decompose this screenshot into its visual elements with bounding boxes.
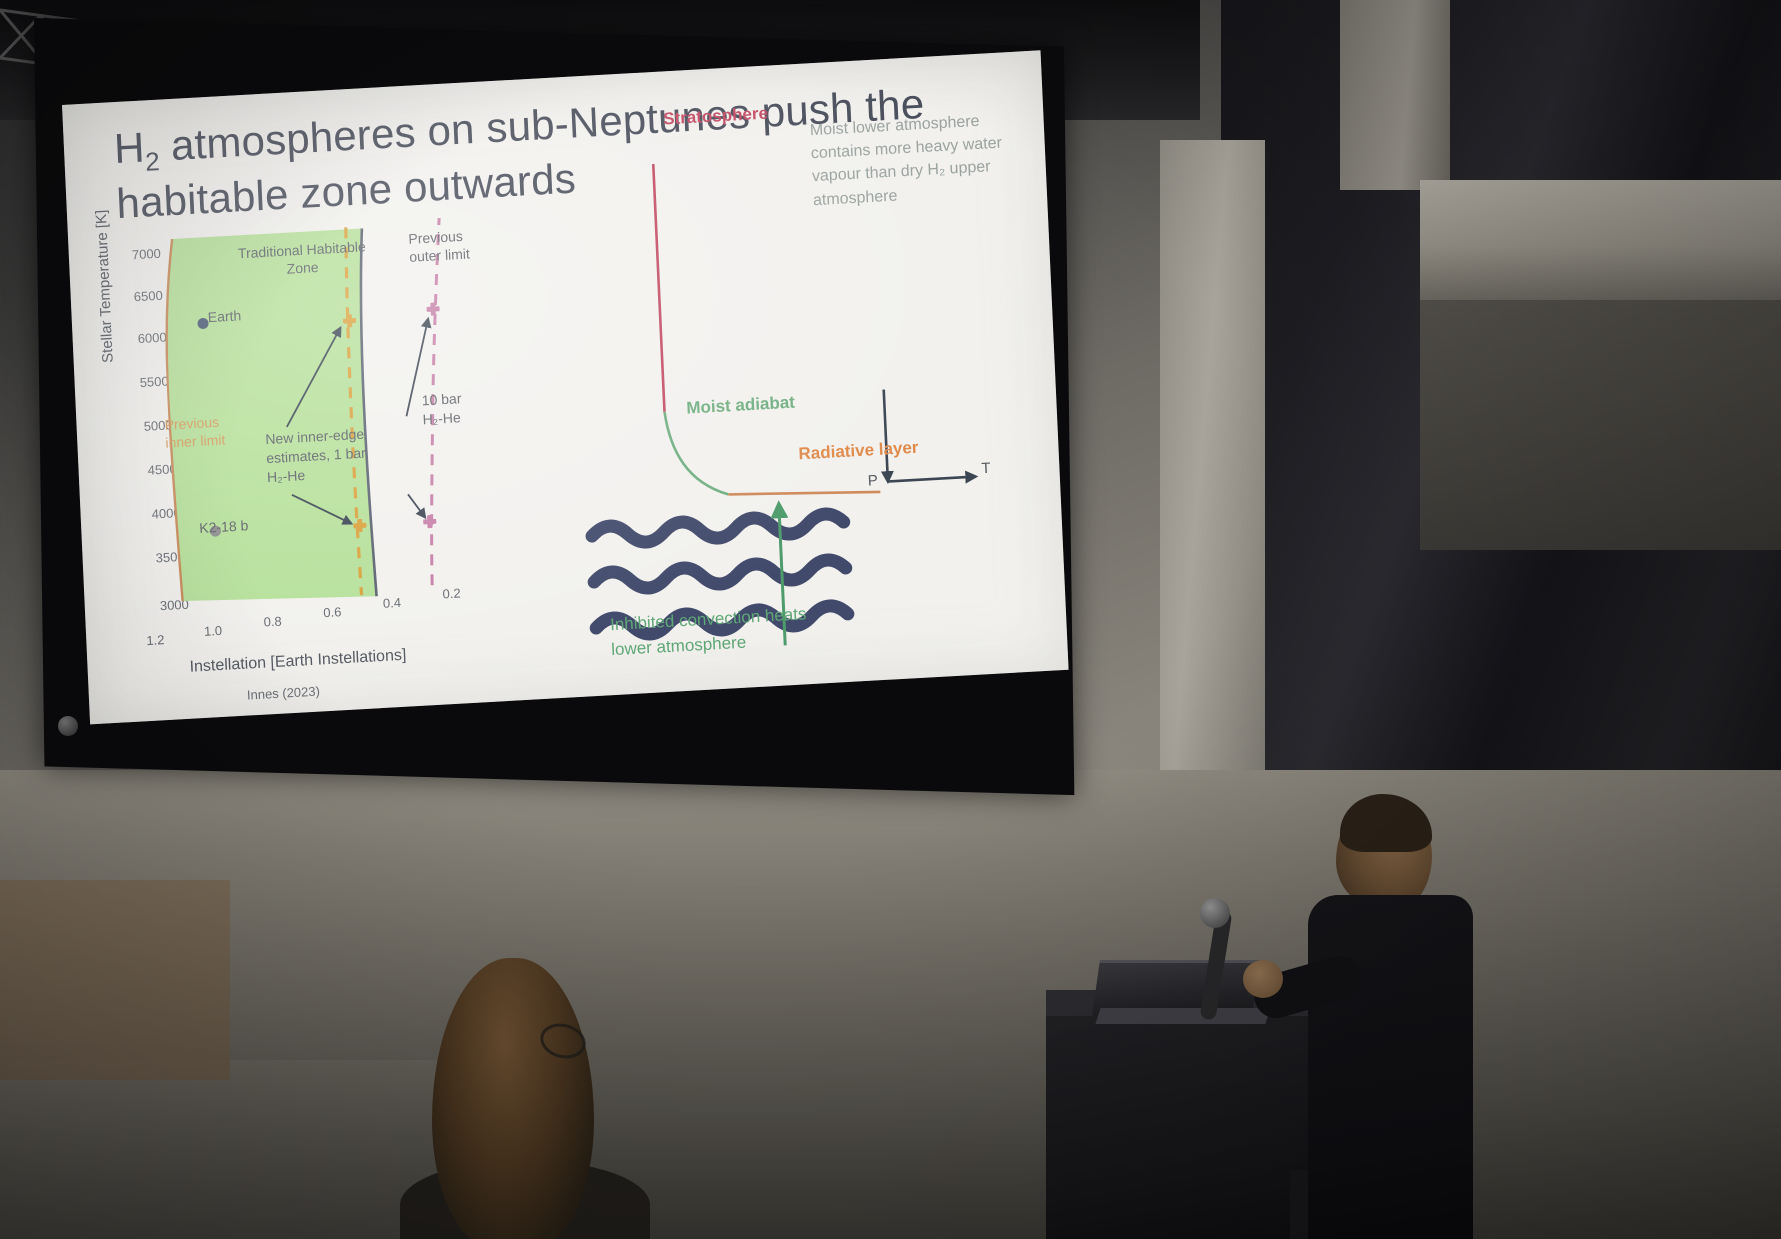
annotation-prev-inner-l1: Previous	[164, 414, 219, 433]
presenter-hair	[1340, 794, 1432, 852]
slide-title-h: H	[113, 123, 146, 172]
x-tick-1-2: 1.2	[146, 632, 165, 648]
microphone-icon	[1200, 898, 1230, 928]
slide-title-subscript: 2	[145, 146, 161, 177]
axis-label-t: T	[981, 460, 991, 477]
atmosphere-schematic: Stratosphere Moist adiabat Radiative lay…	[563, 91, 1057, 657]
annotation-new-inner-edge: New inner-edge estimates, 1 bar H₂-He	[265, 425, 367, 487]
y-axis-label: Stellar Temperature [K]	[93, 209, 117, 363]
y-tick-4500: 4500	[124, 461, 177, 479]
y-tick-6500: 6500	[110, 288, 163, 306]
annotation-prev-outer-l1: Previous	[408, 228, 463, 247]
slide-content: H2 atmospheres on sub-Neptunes push the …	[62, 50, 1069, 724]
curve-radiative-layer	[728, 486, 880, 500]
pillar-upper	[1340, 0, 1450, 190]
y-tick-6000: 6000	[114, 330, 167, 348]
balcony-ledge	[1420, 180, 1781, 300]
chart-citation: Innes (2023)	[247, 684, 321, 703]
annotation-previous-outer-limit: Previous outer limit	[408, 226, 470, 266]
marker-cross-new-outer-top	[426, 302, 440, 316]
projected-slide: H2 atmospheres on sub-Neptunes push the …	[62, 50, 1069, 724]
annotation-new-inner-l3: H₂-He	[267, 467, 306, 485]
annotation-10-bar: 10 bar H₂-He	[421, 389, 462, 429]
schematic-caption-l2: lower atmosphere	[611, 632, 747, 659]
annotation-prev-inner-l2: inner limit	[165, 432, 226, 451]
x-axis-label: Instellation [Earth Instellations]	[189, 647, 406, 677]
axis-label-p: P	[867, 472, 878, 490]
annotation-10bar-l2: H₂-He	[422, 409, 461, 427]
annotation-10bar-l1: 10 bar	[421, 390, 461, 408]
screenshot-root: H2 atmospheres on sub-Neptunes push the …	[0, 0, 1781, 1239]
annotation-trad-hz-l2: Zone	[286, 258, 319, 276]
annotation-new-inner-l1: New inner-edge	[265, 426, 364, 448]
y-tick-7000: 7000	[109, 246, 162, 264]
curve-stratosphere	[653, 164, 664, 412]
y-tick-5500: 5500	[116, 373, 169, 391]
balcony-shadow	[1420, 300, 1781, 550]
curve-moist-adiabat	[665, 408, 729, 497]
pt-axis-icon	[884, 385, 976, 482]
annotation-new-inner-l2: estimates, 1 bar	[266, 444, 366, 466]
presenter-hand	[1243, 960, 1283, 998]
presenter-body	[1308, 895, 1473, 1239]
wall-warm-panel	[0, 880, 230, 1080]
laptop-base	[1095, 1008, 1270, 1024]
label-earth: Earth	[207, 307, 241, 326]
annotation-previous-inner-limit: Previous inner limit	[164, 412, 225, 452]
annotation-prev-outer-l2: outer limit	[409, 246, 470, 265]
presenter	[1318, 800, 1478, 1239]
label-k2-18b: K2-18 b	[199, 517, 249, 537]
schematic-caption: Inhibited convection heats lower atmosph…	[610, 602, 809, 662]
habitable-zone-chart: Stellar Temperature [K] 7000 6500 6000 5…	[108, 219, 558, 693]
schematic-paragraph: Moist lower atmosphere contains more hea…	[809, 107, 1041, 212]
